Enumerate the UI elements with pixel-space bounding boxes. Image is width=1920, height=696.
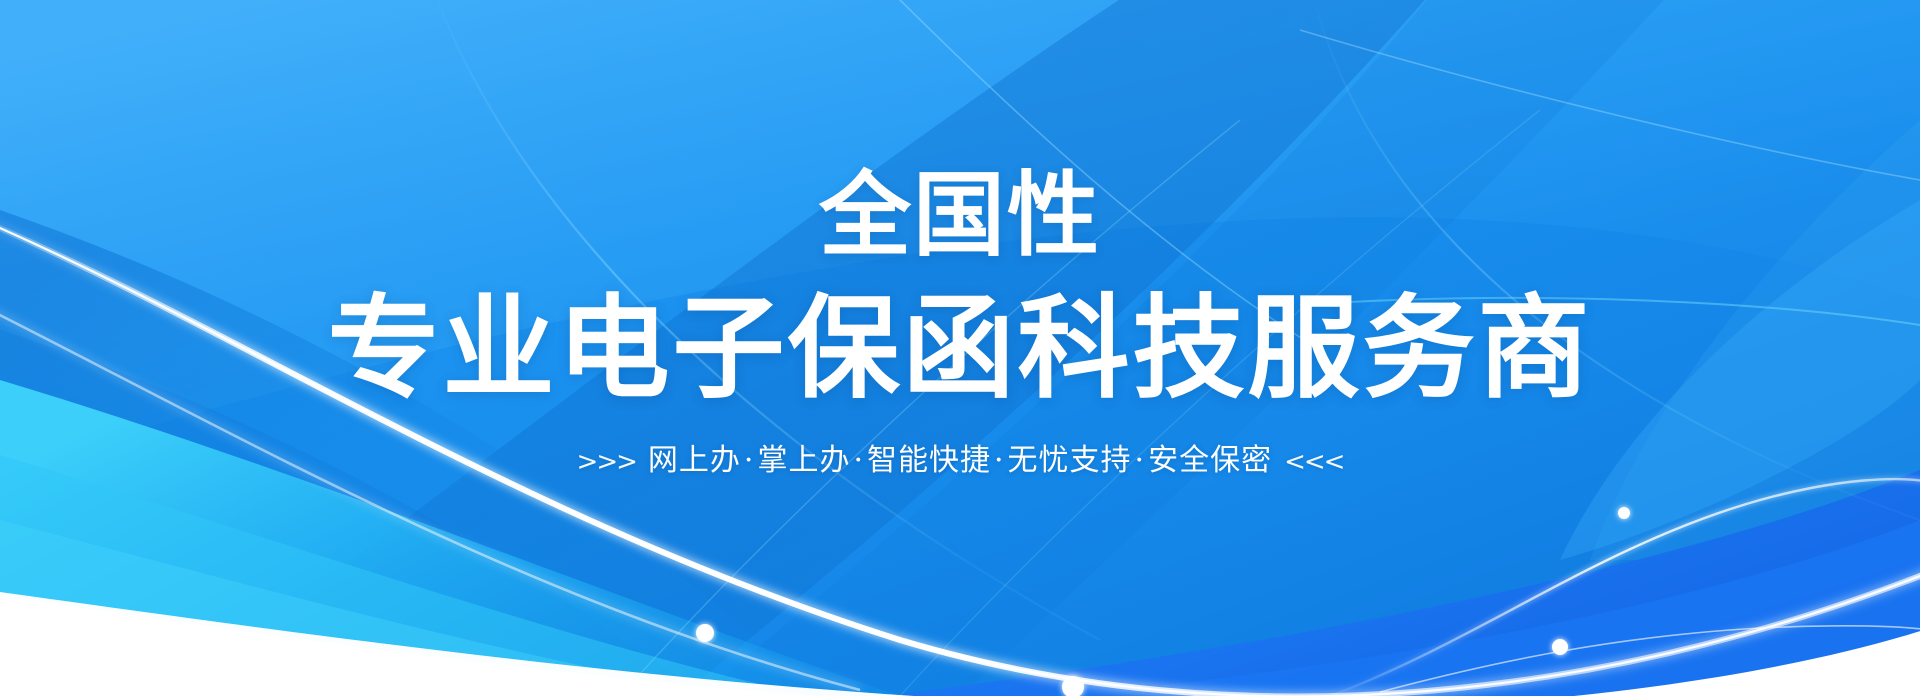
node-dot (1618, 507, 1630, 519)
node-dot (696, 624, 714, 642)
node-dot (1552, 639, 1568, 655)
background-artwork (0, 0, 1920, 696)
hero-banner: 全国性 专业电子保函科技服务商 >>>网上办·掌上办·智能快捷·无忧支持·安全保… (0, 0, 1920, 696)
